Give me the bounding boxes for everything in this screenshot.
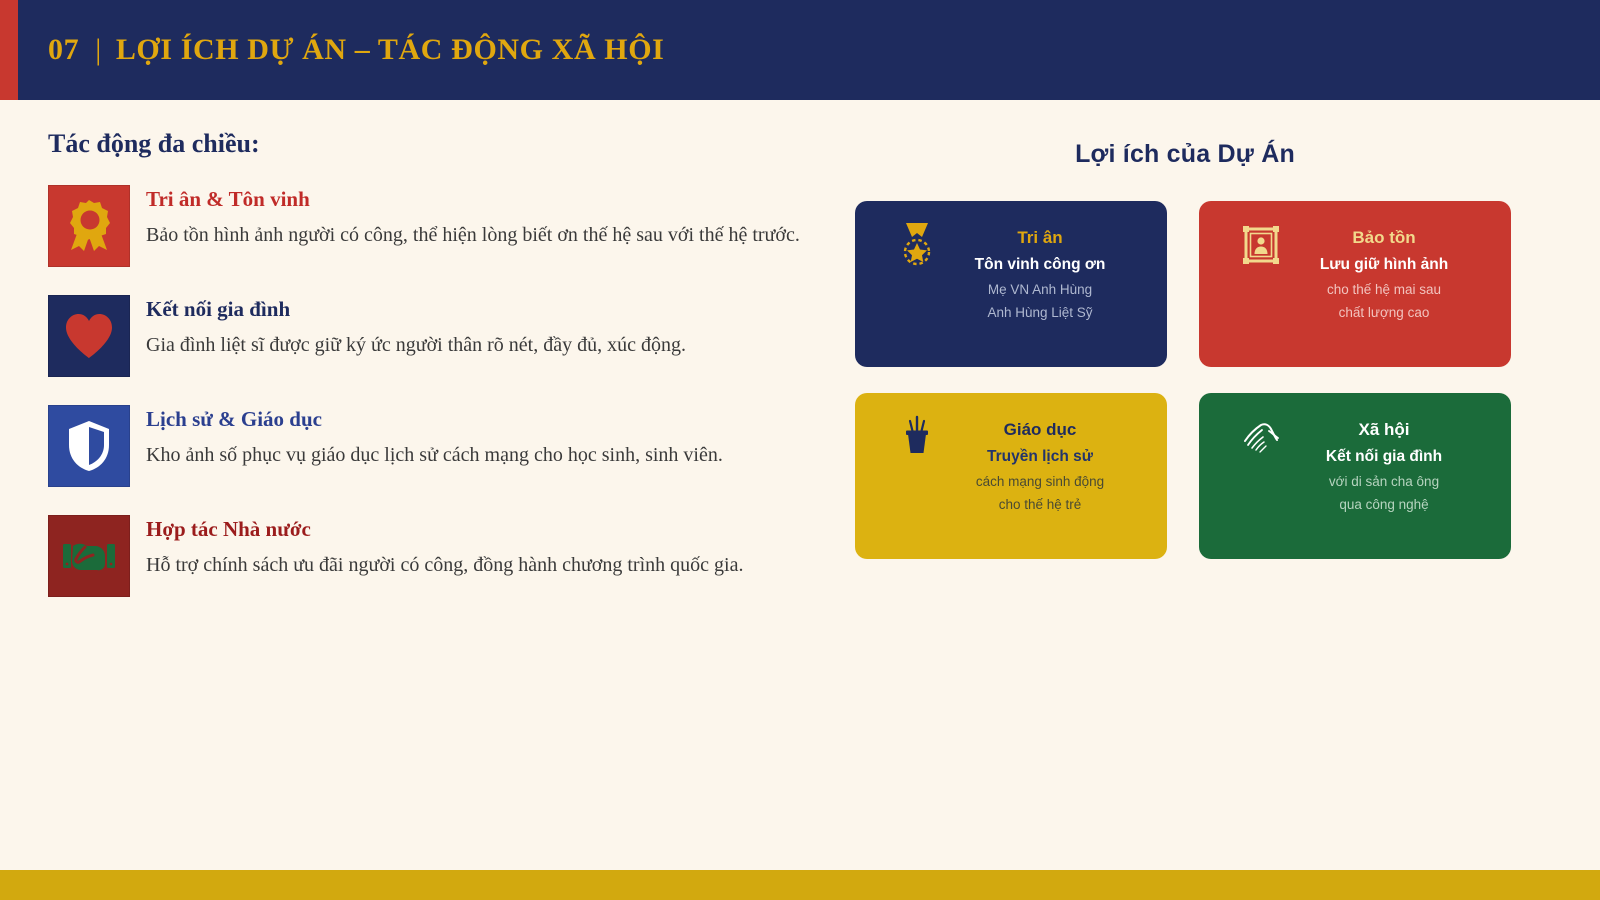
card-line-2: cho thế hệ mai sau	[1285, 282, 1483, 298]
award-ribbon-icon-tile	[48, 185, 130, 267]
impact-body: Hợp tác Nhà nước Hỗ trợ chính sách ưu đã…	[146, 515, 838, 580]
heart-icon	[63, 311, 115, 361]
benefit-card-giao-duc[interactable]: Giáo dục Truyền lịch sử cách mạng sinh đ…	[855, 393, 1167, 559]
impact-item-ket-noi-gia-dinh: Kết nối gia đình Gia đình liệt sĩ được g…	[48, 295, 838, 377]
handshake-outline-icon	[1239, 417, 1283, 457]
card-line-1: Kết nối gia đình	[1285, 448, 1483, 467]
card-line-2: cách mạng sinh động	[941, 474, 1139, 490]
impact-list-column: Tác động đa chiều: Tri ân & Tôn vinh Bảo…	[48, 128, 838, 625]
impact-item-hop-tac-nha-nuoc: Hợp tác Nhà nước Hỗ trợ chính sách ưu đã…	[48, 515, 838, 597]
slide-footer-bar	[0, 870, 1600, 900]
portrait-frame-icon-wrap	[1239, 223, 1283, 267]
card-title: Giáo dục	[941, 421, 1139, 440]
benefits-column: Lợi ích của Dự Án Tri ân Tôn vinh công ơ…	[855, 140, 1515, 559]
card-line-3: cho thế hệ trẻ	[941, 497, 1139, 513]
handshake-icon	[61, 534, 117, 578]
impact-body: Kết nối gia đình Gia đình liệt sĩ được g…	[146, 295, 838, 360]
education-torch-icon-wrap	[895, 415, 939, 459]
card-title: Tri ân	[941, 229, 1139, 248]
slide-title: 07 | LỢI ÍCH DỰ ÁN – TÁC ĐỘNG XÃ HỘI	[48, 0, 664, 100]
section-title: Tác động đa chiều:	[48, 128, 838, 159]
title-separator: |	[95, 33, 102, 67]
shield-icon-tile	[48, 405, 130, 487]
impact-description: Hỗ trợ chính sách ưu đãi người có công, …	[146, 551, 806, 580]
benefits-heading: Lợi ích của Dự Án	[855, 140, 1515, 169]
portrait-frame-icon	[1241, 224, 1281, 266]
handshake-outline-icon-wrap	[1239, 415, 1283, 459]
benefit-card-tri-an[interactable]: Tri ân Tôn vinh công ơn Mẹ VN Anh Hùng A…	[855, 201, 1167, 367]
card-line-1: Tôn vinh công ơn	[941, 256, 1139, 275]
card-line-3: qua công nghệ	[1285, 497, 1483, 513]
impact-description: Kho ảnh số phục vụ giáo dục lịch sử cách…	[146, 441, 806, 470]
benefit-card-grid: Tri ân Tôn vinh công ơn Mẹ VN Anh Hùng A…	[855, 201, 1515, 559]
card-title: Bảo tồn	[1285, 229, 1483, 248]
slide-number: 07	[48, 33, 79, 67]
medal-star-icon-wrap	[895, 223, 939, 267]
slide-header-bar: 07 | LỢI ÍCH DỰ ÁN – TÁC ĐỘNG XÃ HỘI	[0, 0, 1600, 100]
card-line-1: Truyền lịch sử	[941, 448, 1139, 467]
impact-title: Kết nối gia đình	[146, 297, 838, 321]
heart-icon-tile	[48, 295, 130, 377]
impact-title: Tri ân & Tôn vinh	[146, 187, 838, 211]
impact-title: Hợp tác Nhà nước	[146, 517, 838, 541]
header-accent-stripe	[0, 0, 18, 100]
education-torch-icon	[900, 415, 934, 459]
slide-title-text: LỢI ÍCH DỰ ÁN – TÁC ĐỘNG XÃ HỘI	[116, 33, 665, 67]
benefit-card-xa-hoi[interactable]: Xã hội Kết nối gia đình với di sản cha ô…	[1199, 393, 1511, 559]
impact-body: Tri ân & Tôn vinh Bảo tồn hình ảnh người…	[146, 185, 838, 250]
card-line-2: với di sản cha ông	[1285, 474, 1483, 490]
award-ribbon-icon	[64, 198, 114, 254]
impact-item-tri-an: Tri ân & Tôn vinh Bảo tồn hình ảnh người…	[48, 185, 838, 267]
shield-icon	[66, 419, 112, 473]
card-text: Bảo tồn Lưu giữ hình ảnh cho thế hệ mai …	[1283, 215, 1493, 329]
card-text: Giáo dục Truyền lịch sử cách mạng sinh đ…	[939, 407, 1149, 521]
card-title: Xã hội	[1285, 421, 1483, 440]
medal-star-icon	[897, 222, 937, 268]
impact-body: Lịch sử & Giáo dục Kho ảnh số phục vụ gi…	[146, 405, 838, 470]
benefit-card-bao-ton[interactable]: Bảo tồn Lưu giữ hình ảnh cho thế hệ mai …	[1199, 201, 1511, 367]
card-line-1: Lưu giữ hình ảnh	[1285, 256, 1483, 275]
card-line-3: Anh Hùng Liệt Sỹ	[941, 305, 1139, 321]
impact-description: Gia đình liệt sĩ được giữ ký ức người th…	[146, 331, 806, 360]
impact-description: Bảo tồn hình ảnh người có công, thể hiện…	[146, 221, 806, 250]
card-line-3: chất lượng cao	[1285, 305, 1483, 321]
card-text: Xã hội Kết nối gia đình với di sản cha ô…	[1283, 407, 1493, 521]
handshake-icon-tile	[48, 515, 130, 597]
card-text: Tri ân Tôn vinh công ơn Mẹ VN Anh Hùng A…	[939, 215, 1149, 329]
impact-item-lich-su-giao-duc: Lịch sử & Giáo dục Kho ảnh số phục vụ gi…	[48, 405, 838, 487]
card-line-2: Mẹ VN Anh Hùng	[941, 282, 1139, 298]
impact-title: Lịch sử & Giáo dục	[146, 407, 838, 431]
